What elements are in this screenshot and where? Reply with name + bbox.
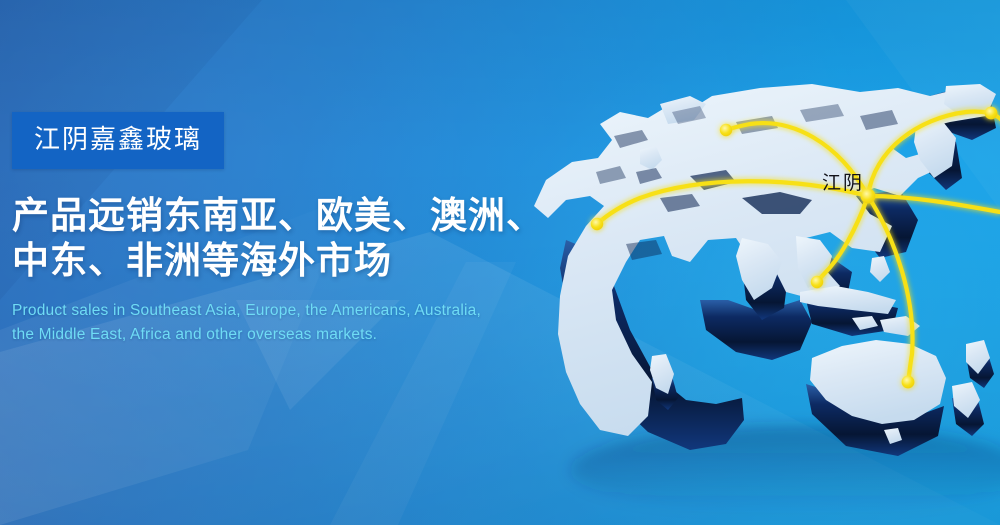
subtitle-line-2: the Middle East, Africa and other overse… xyxy=(12,323,612,347)
headline: 产品远销东南亚、欧美、澳洲、 中东、非洲等海外市场 xyxy=(12,193,612,283)
headline-line-1: 产品远销东南亚、欧美、澳洲、 xyxy=(12,193,612,238)
promo-banner: 江阴 江阴嘉鑫玻璃 产品远销东南亚、欧美、澳洲、 中东、非洲等海外市场 Prod… xyxy=(0,0,1000,525)
subtitle: Product sales in Southeast Asia, Europe,… xyxy=(12,299,612,347)
headline-line-2: 中东、非洲等海外市场 xyxy=(12,238,612,283)
subtitle-line-1: Product sales in Southeast Asia, Europe,… xyxy=(12,299,612,323)
banner-copy-block: 江阴嘉鑫玻璃 产品远销东南亚、欧美、澳洲、 中东、非洲等海外市场 Product… xyxy=(12,112,612,347)
map-hub-label: 江阴 xyxy=(822,168,864,195)
company-name-badge: 江阴嘉鑫玻璃 xyxy=(12,112,224,169)
